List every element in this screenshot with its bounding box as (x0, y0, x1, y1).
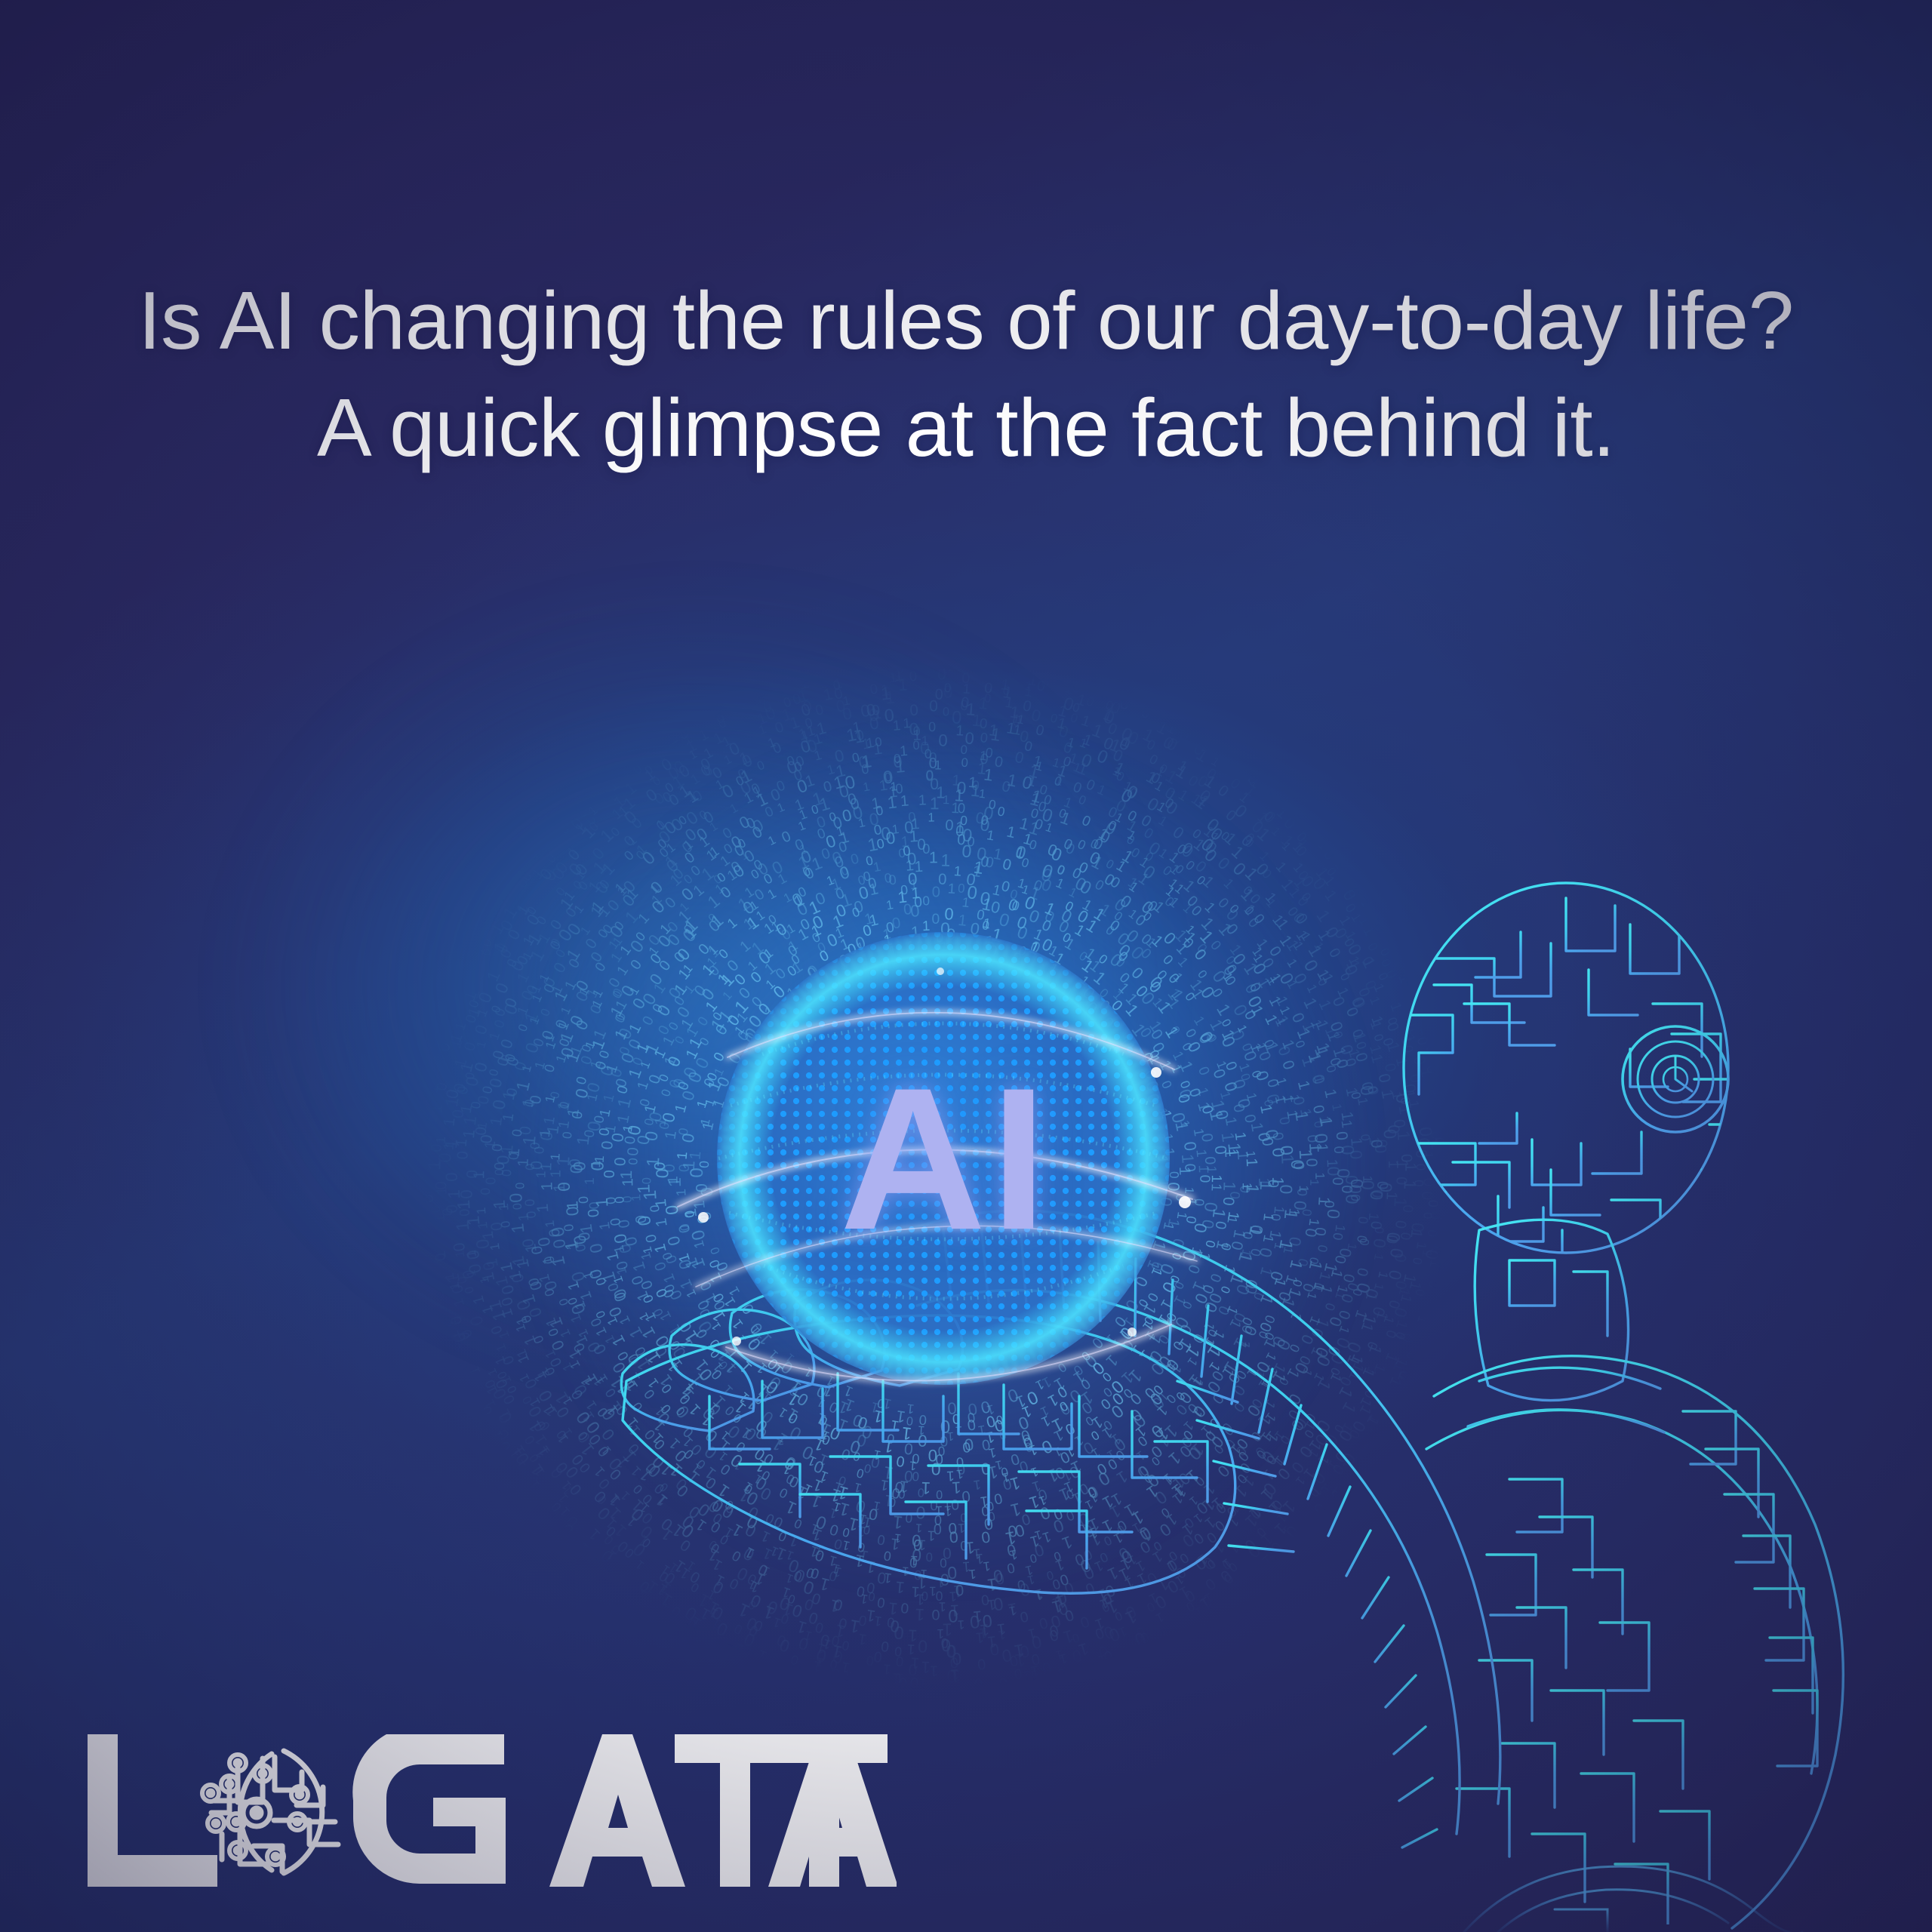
background-vignette (0, 0, 1932, 1932)
social-post-canvas: 1011000000110000110111110010000001100001… (0, 0, 1932, 1932)
